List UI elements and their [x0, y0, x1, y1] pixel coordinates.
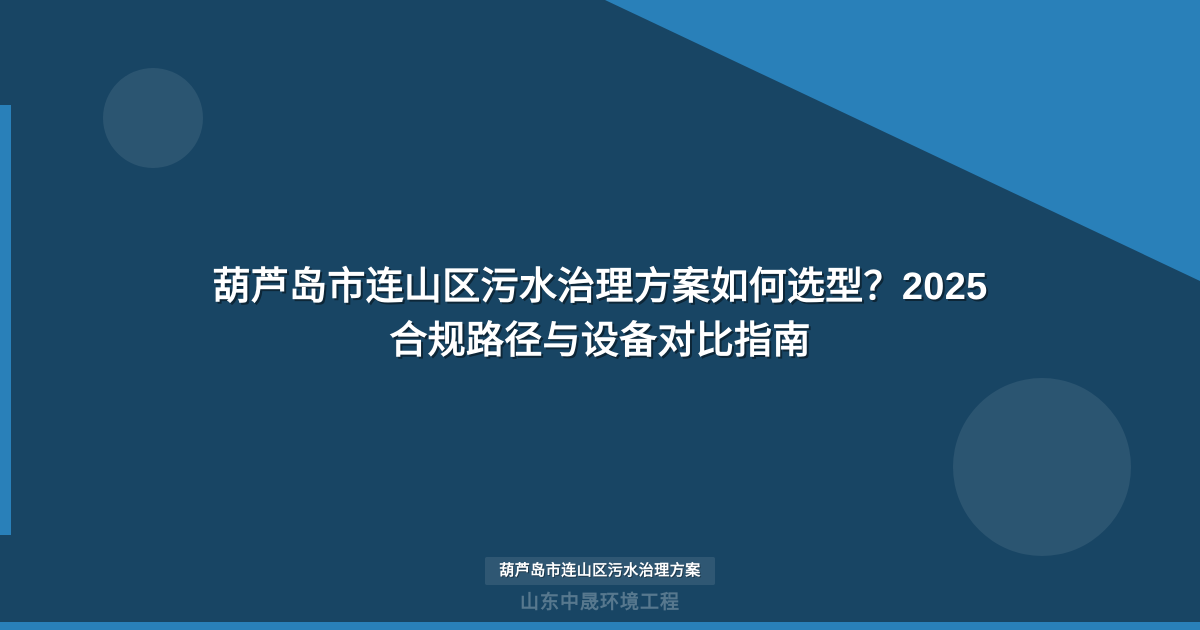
brand-watermark: 山东中晟环境工程	[520, 591, 680, 616]
banner-content: 葫芦岛市连山区污水治理方案如何选型？2025 合规路径与设备对比指南	[0, 0, 1200, 630]
page-title-line-2: 合规路径与设备对比指南	[170, 315, 1030, 369]
keyword-badge: 葫芦岛市连山区污水治理方案	[485, 557, 715, 586]
banner-canvas: 葫芦岛市连山区污水治理方案如何选型？2025 合规路径与设备对比指南 葫芦岛市连…	[0, 0, 1200, 630]
banner-footer: 葫芦岛市连山区污水治理方案 山东中晟环境工程	[0, 557, 1200, 616]
page-title-line-1: 葫芦岛市连山区污水治理方案如何选型？2025	[170, 261, 1030, 315]
page-title: 葫芦岛市连山区污水治理方案如何选型？2025 合规路径与设备对比指南	[170, 261, 1030, 369]
